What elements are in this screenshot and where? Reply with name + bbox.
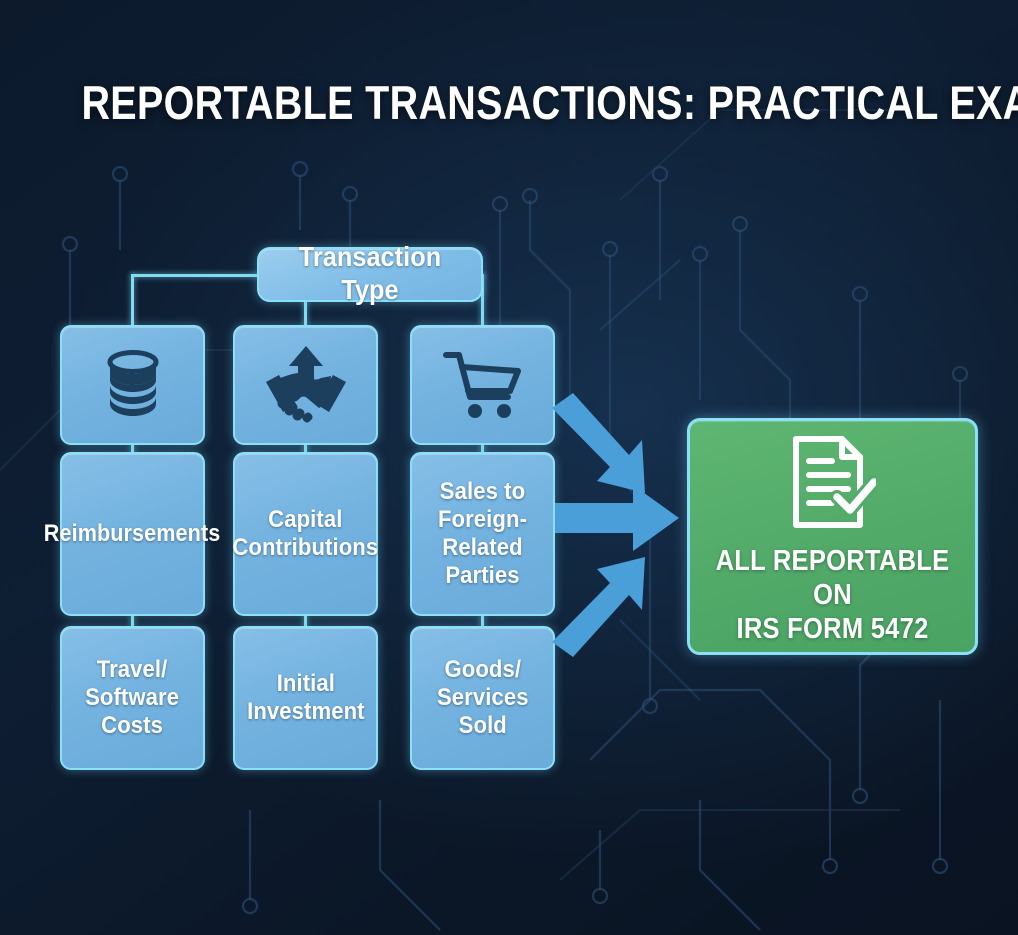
arrow-up-right-icon	[552, 557, 645, 657]
node-col2-item-1[interactable]: Initial Investment	[233, 626, 378, 770]
node-transaction-type-label: Transaction Type	[270, 241, 470, 306]
icon-box-handshake-arrow[interactable]	[233, 325, 378, 445]
connector-root-left-h	[131, 274, 261, 277]
node-col1-item-0[interactable]: Reimbursements	[60, 452, 205, 616]
result-card-label: ALL REPORTABLE ON IRS FORM 5472	[707, 544, 958, 647]
node-col2-item-1-label: Initial Investment	[243, 670, 368, 726]
node-col2-item-0[interactable]: Capital Contributions	[233, 452, 378, 616]
node-col2-item-0-label: Capital Contributions	[229, 506, 382, 562]
infographic-canvas: REPORTABLE TRANSACTIONS: PRACTICAL EXAMP…	[0, 0, 1018, 935]
connector-root-left-v	[131, 274, 134, 327]
result-card-form-5472[interactable]: ALL REPORTABLE ON IRS FORM 5472	[687, 418, 978, 655]
arrow-group	[545, 385, 695, 665]
page-title: REPORTABLE TRANSACTIONS: PRACTICAL EXAMP…	[81, 75, 936, 130]
arrow-down-right-icon	[552, 393, 645, 493]
node-col3-item-1[interactable]: Goods/ Services Sold	[410, 626, 555, 770]
node-col1-item-1[interactable]: Travel/ Software Costs	[60, 626, 205, 770]
node-transaction-type[interactable]: Transaction Type	[257, 247, 483, 302]
node-col3-item-0[interactable]: Sales to Foreign-Related Parties	[410, 452, 555, 616]
node-col1-item-1-label: Travel/ Software Costs	[82, 656, 183, 739]
icon-box-coin-stack[interactable]	[60, 325, 205, 445]
icon-box-shopping-cart[interactable]	[410, 325, 555, 445]
arrow-right-icon	[555, 485, 679, 551]
node-col3-item-1-label: Goods/ Services Sold	[433, 656, 532, 739]
node-col3-item-0-label: Sales to Foreign-Related Parties	[418, 478, 548, 589]
coin-stack-icon	[62, 327, 203, 443]
shopping-cart-icon	[412, 327, 553, 443]
handshake-arrow-icon	[235, 327, 376, 443]
node-col1-item-0-label: Reimbursements	[41, 520, 225, 548]
document-check-icon	[790, 433, 876, 536]
